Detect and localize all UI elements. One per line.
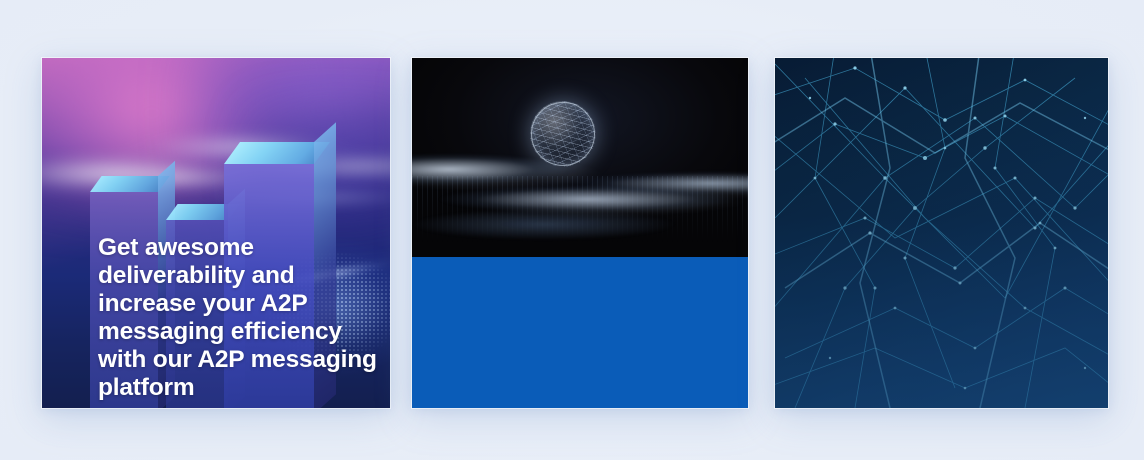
card3-gradient-veil <box>775 58 1108 408</box>
banner-card-2[interactable]: Let's expand your business horizons glob… <box>412 58 748 408</box>
card2-artwork <box>412 58 748 257</box>
banner-gallery: Get awesome deliverability and increase … <box>0 0 1144 460</box>
card2-vertical-streaks <box>412 176 748 254</box>
card2-blue-panel <box>412 257 748 408</box>
banner-card-1[interactable]: Get awesome deliverability and increase … <box>42 58 390 408</box>
card1-headline: Get awesome deliverability and increase … <box>98 234 390 402</box>
banner-card-3[interactable]: GlobaHub — your best partner in communic… <box>775 58 1108 408</box>
